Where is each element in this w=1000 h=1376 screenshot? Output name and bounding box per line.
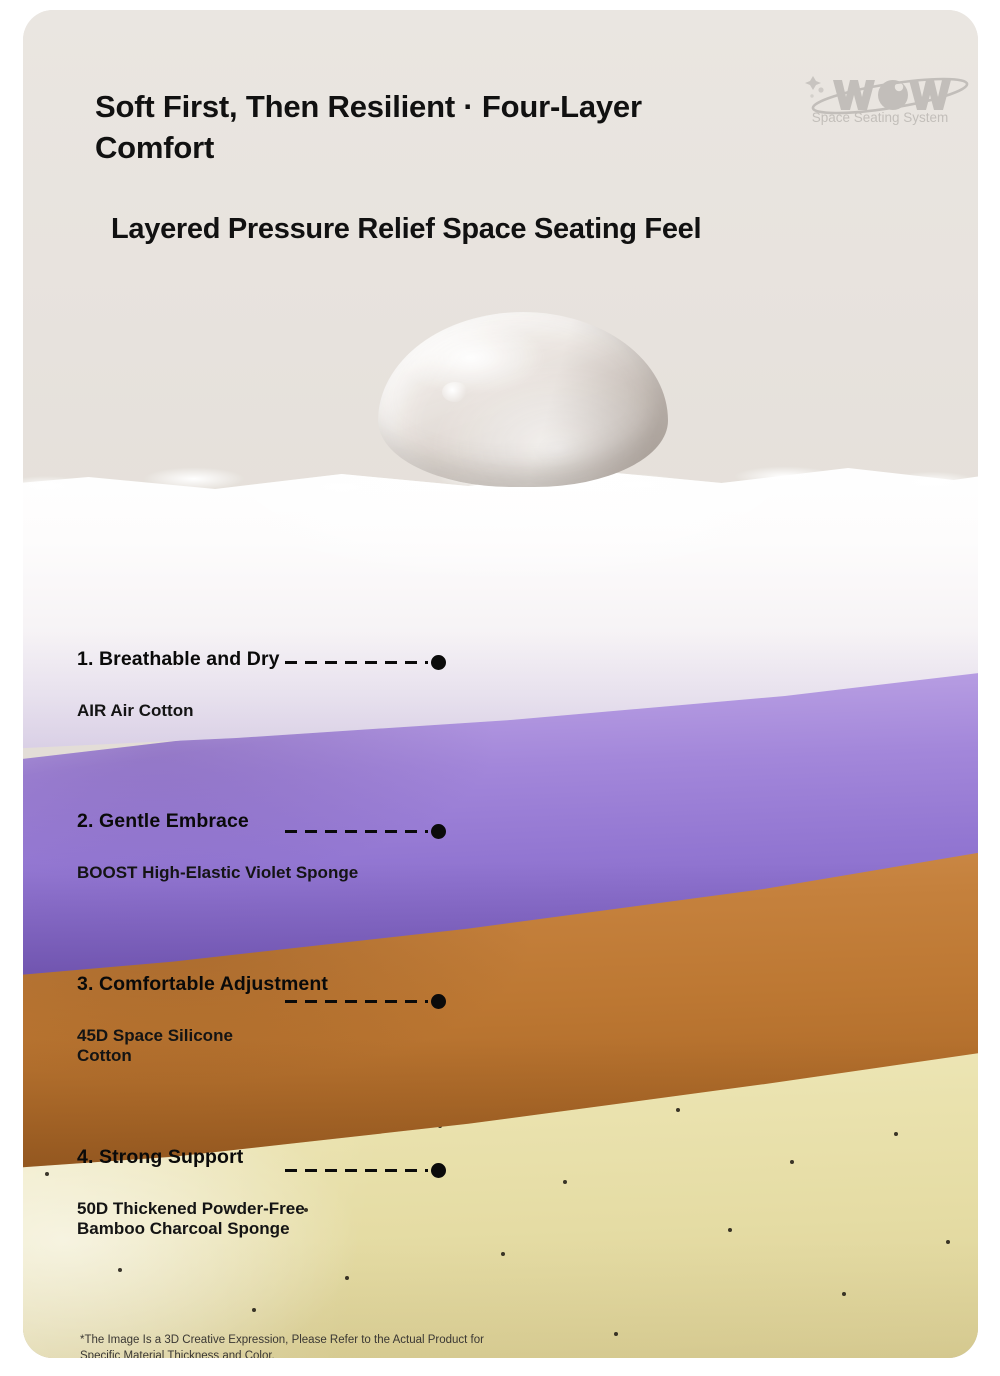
callout-layer-1: 1. Breathable and Dry AIR Air Cotton: [77, 648, 280, 721]
callout-title: 1. Breathable and Dry: [77, 648, 280, 671]
leader-line-3: [285, 993, 447, 1009]
product-card: Soft First, Then Resilient · Four-Layer …: [23, 10, 978, 1358]
page-title: Soft First, Then Resilient · Four-Layer …: [95, 86, 755, 168]
callout-layer-2: 2. Gentle Embrace BOOST High-Elastic Vio…: [77, 810, 358, 883]
leader-dashes: [285, 830, 428, 833]
callout-title: 4. Strong Support: [77, 1146, 305, 1169]
leader-dot: [431, 1163, 446, 1178]
leader-dot: [431, 655, 446, 670]
leader-line-1: [285, 654, 447, 670]
callout-material: BOOST High-Elastic Violet Sponge: [77, 863, 358, 883]
droplet-specular-highlight: [442, 382, 468, 402]
leader-dashes: [285, 1000, 428, 1003]
logo-caption: Space Seating System: [805, 108, 955, 128]
infographic-page: Soft First, Then Resilient · Four-Layer …: [0, 0, 1000, 1376]
leader-dot: [431, 994, 446, 1009]
callout-layer-4: 4. Strong Support 50D Thickened Powder-F…: [77, 1146, 305, 1239]
leader-dot: [431, 824, 446, 839]
callout-material: AIR Air Cotton: [77, 701, 280, 721]
leader-dashes: [285, 661, 428, 664]
callout-material: 45D Space Silicone Cotton: [77, 1026, 328, 1066]
callout-layer-3: 3. Comfortable Adjustment 45D Space Sili…: [77, 973, 328, 1066]
page-subtitle: Layered Pressure Relief Space Seating Fe…: [111, 213, 911, 246]
leader-line-4: [285, 1162, 447, 1178]
disclaimer-footnote: *The Image Is a 3D Creative Expression, …: [80, 1332, 550, 1358]
brand-logo: Space Seating System: [805, 70, 975, 160]
leader-dashes: [285, 1169, 428, 1172]
leader-line-2: [285, 823, 447, 839]
callout-material: 50D Thickened Powder-Free Bamboo Charcoa…: [77, 1199, 305, 1239]
